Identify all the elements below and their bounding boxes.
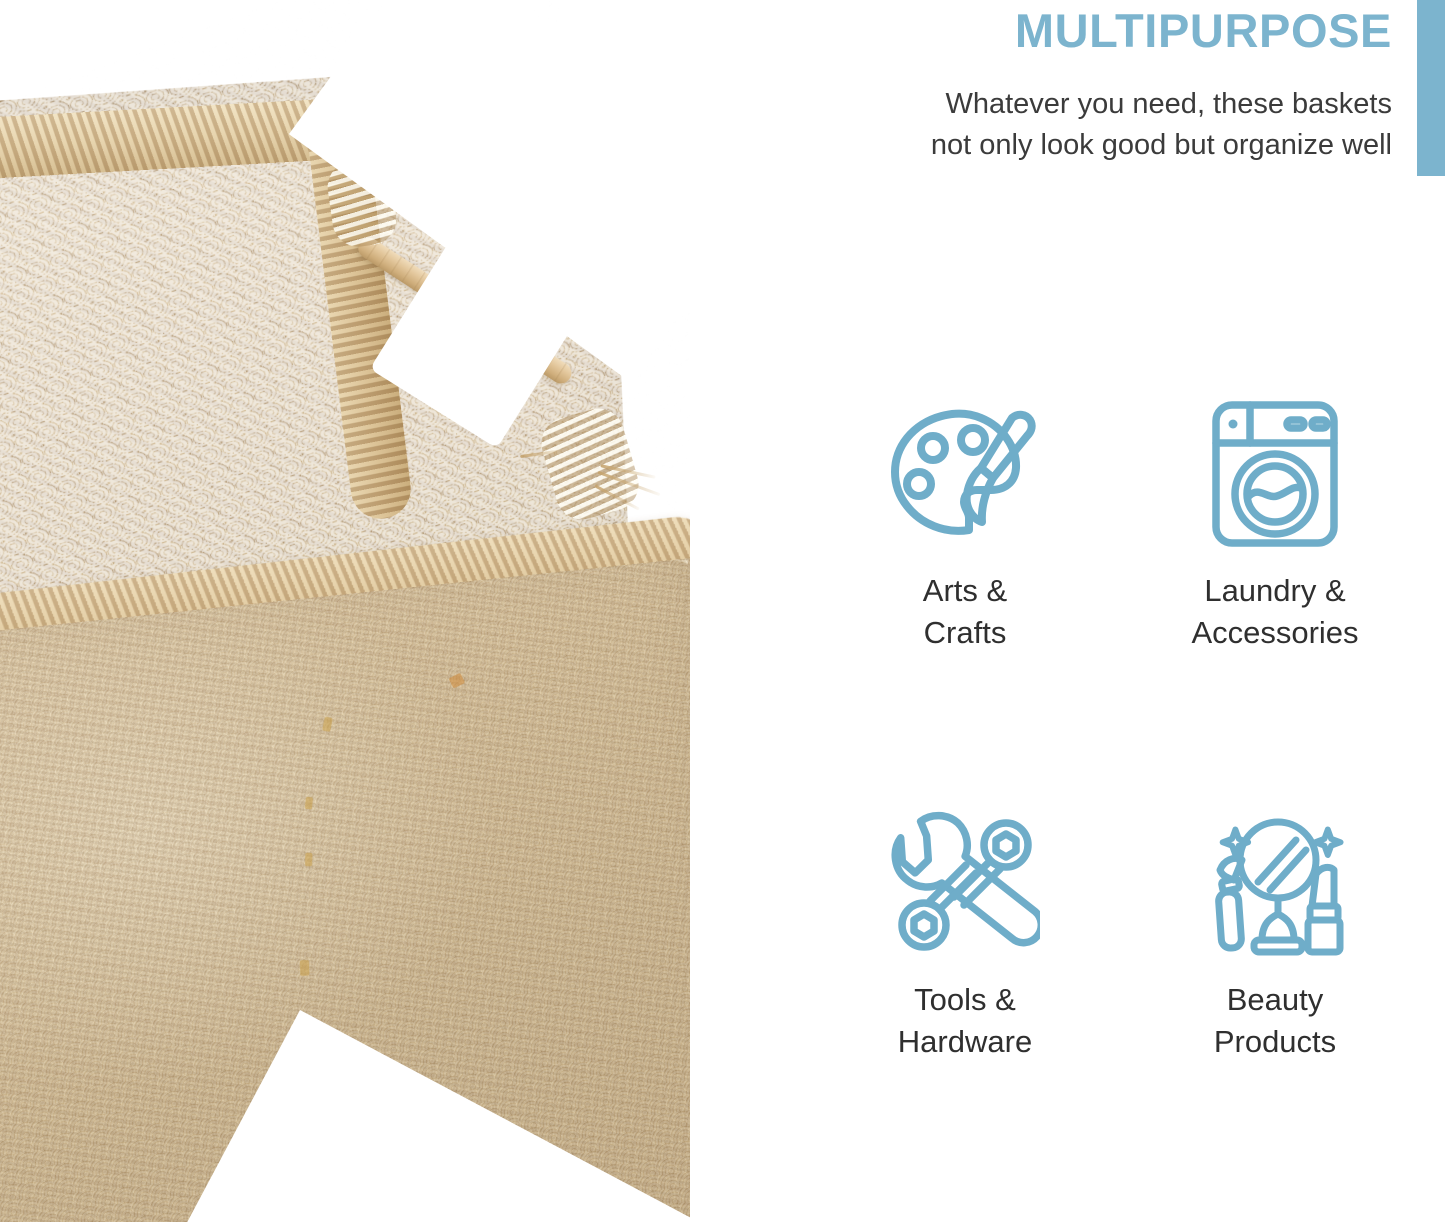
feature-label-line-1: Tools &	[898, 979, 1032, 1021]
feature-label-line-1: Beauty	[1214, 979, 1336, 1021]
paint-palette-icon	[885, 400, 1045, 548]
crossed-wrenches-icon	[890, 809, 1040, 957]
feature-label-line-2: Products	[1214, 1021, 1336, 1063]
feature-label-line-2: Accessories	[1191, 612, 1358, 654]
feature-label-beauty-products: Beauty Products	[1214, 979, 1336, 1063]
straw-fleck	[305, 853, 313, 867]
feature-arts-crafts: Arts & Crafts	[820, 400, 1110, 654]
feature-label-line-1: Arts &	[923, 570, 1007, 612]
feature-label-arts-crafts: Arts & Crafts	[923, 570, 1007, 654]
straw-fleck	[300, 960, 310, 976]
product-photo-stage	[0, 0, 760, 1232]
feature-label-tools-hardware: Tools & Hardware	[898, 979, 1032, 1063]
photo-mask-bottom	[0, 1222, 760, 1232]
subheading-line-1: Whatever you need, these baskets	[760, 84, 1392, 125]
infographic-page: MULTIPURPOSE Whatever you need, these ba…	[0, 0, 1445, 1232]
vanity-mirror-makeup-icon	[1200, 809, 1350, 957]
feature-tools-hardware: Tools & Hardware	[820, 809, 1110, 1063]
info-panel: MULTIPURPOSE Whatever you need, these ba…	[760, 0, 1445, 1232]
feature-label-line-2: Hardware	[898, 1021, 1032, 1063]
feature-label-laundry-accessories: Laundry & Accessories	[1191, 570, 1358, 654]
washing-machine-icon	[1209, 400, 1341, 548]
feature-beauty-products: Beauty Products	[1130, 809, 1420, 1063]
product-photo	[0, 0, 760, 1232]
subheading-line-2: not only look good but organize well	[760, 125, 1392, 166]
feature-label-line-1: Laundry &	[1191, 570, 1358, 612]
straw-fleck	[305, 797, 313, 810]
feature-grid: Arts & Crafts	[820, 400, 1420, 1063]
page-title: MULTIPURPOSE	[760, 2, 1392, 60]
subheading: Whatever you need, these baskets not onl…	[760, 84, 1392, 166]
feature-label-line-2: Crafts	[923, 612, 1007, 654]
accent-bar	[1417, 0, 1445, 176]
feature-laundry-accessories: Laundry & Accessories	[1130, 400, 1420, 654]
